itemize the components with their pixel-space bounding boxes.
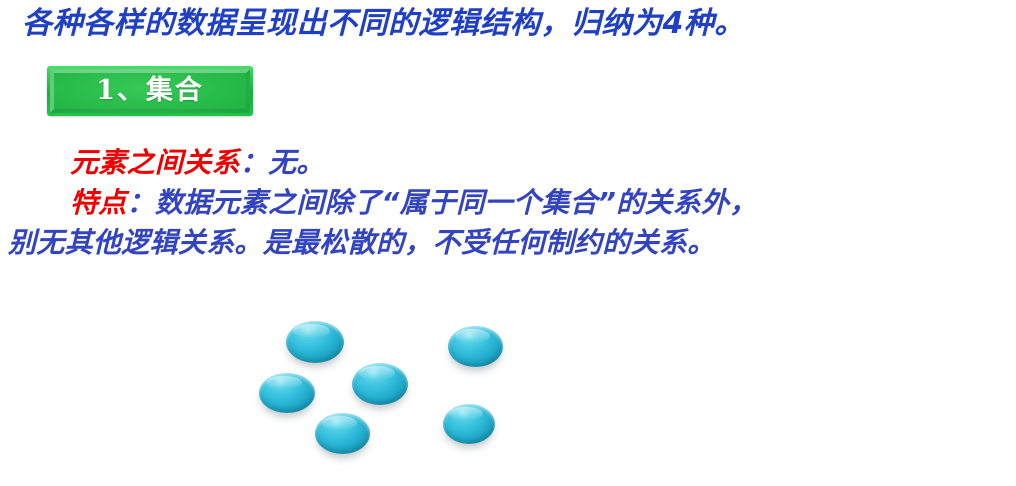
set-element-ellipse[interactable] [259, 373, 315, 413]
set-element-ellipse[interactable] [352, 363, 408, 405]
relation-line: 元素之间关系：无。 [8, 143, 1008, 183]
feature-value-part2: 别无其他逻辑关系。是最松散的，不受任何制约的关系。 [8, 226, 716, 259]
slide-canvas: 各种各样的数据呈现出不同的逻辑结构，归纳为4种。 1、集合 元素之间关系：无。 … [0, 0, 1016, 486]
relation-value: ：无。 [240, 146, 325, 179]
set-element-ellipse[interactable] [448, 326, 503, 367]
feature-line-2: 别无其他逻辑关系。是最松散的，不受任何制约的关系。 [8, 223, 1008, 263]
set-element-ellipse[interactable] [315, 413, 370, 454]
relation-label: 元素之间关系 [70, 146, 240, 179]
feature-label: 特点 [70, 186, 127, 219]
section-banner-label: 1、集合 [96, 77, 204, 104]
section-banner-inner: 1、集合 [50, 69, 250, 113]
page-title: 各种各样的数据呈现出不同的逻辑结构，归纳为4种。 [22, 4, 994, 44]
set-element-ellipse[interactable] [443, 404, 495, 444]
section-banner[interactable]: 1、集合 [47, 66, 253, 116]
body-text-block: 元素之间关系：无。 特点：数据元素之间除了“属于同一个集合”的关系外， 别无其他… [8, 143, 1008, 263]
feature-value-part1: ：数据元素之间除了“属于同一个集合”的关系外， [127, 186, 758, 219]
set-element-ellipse[interactable] [286, 321, 344, 363]
feature-line-1: 特点：数据元素之间除了“属于同一个集合”的关系外， [8, 183, 1008, 223]
